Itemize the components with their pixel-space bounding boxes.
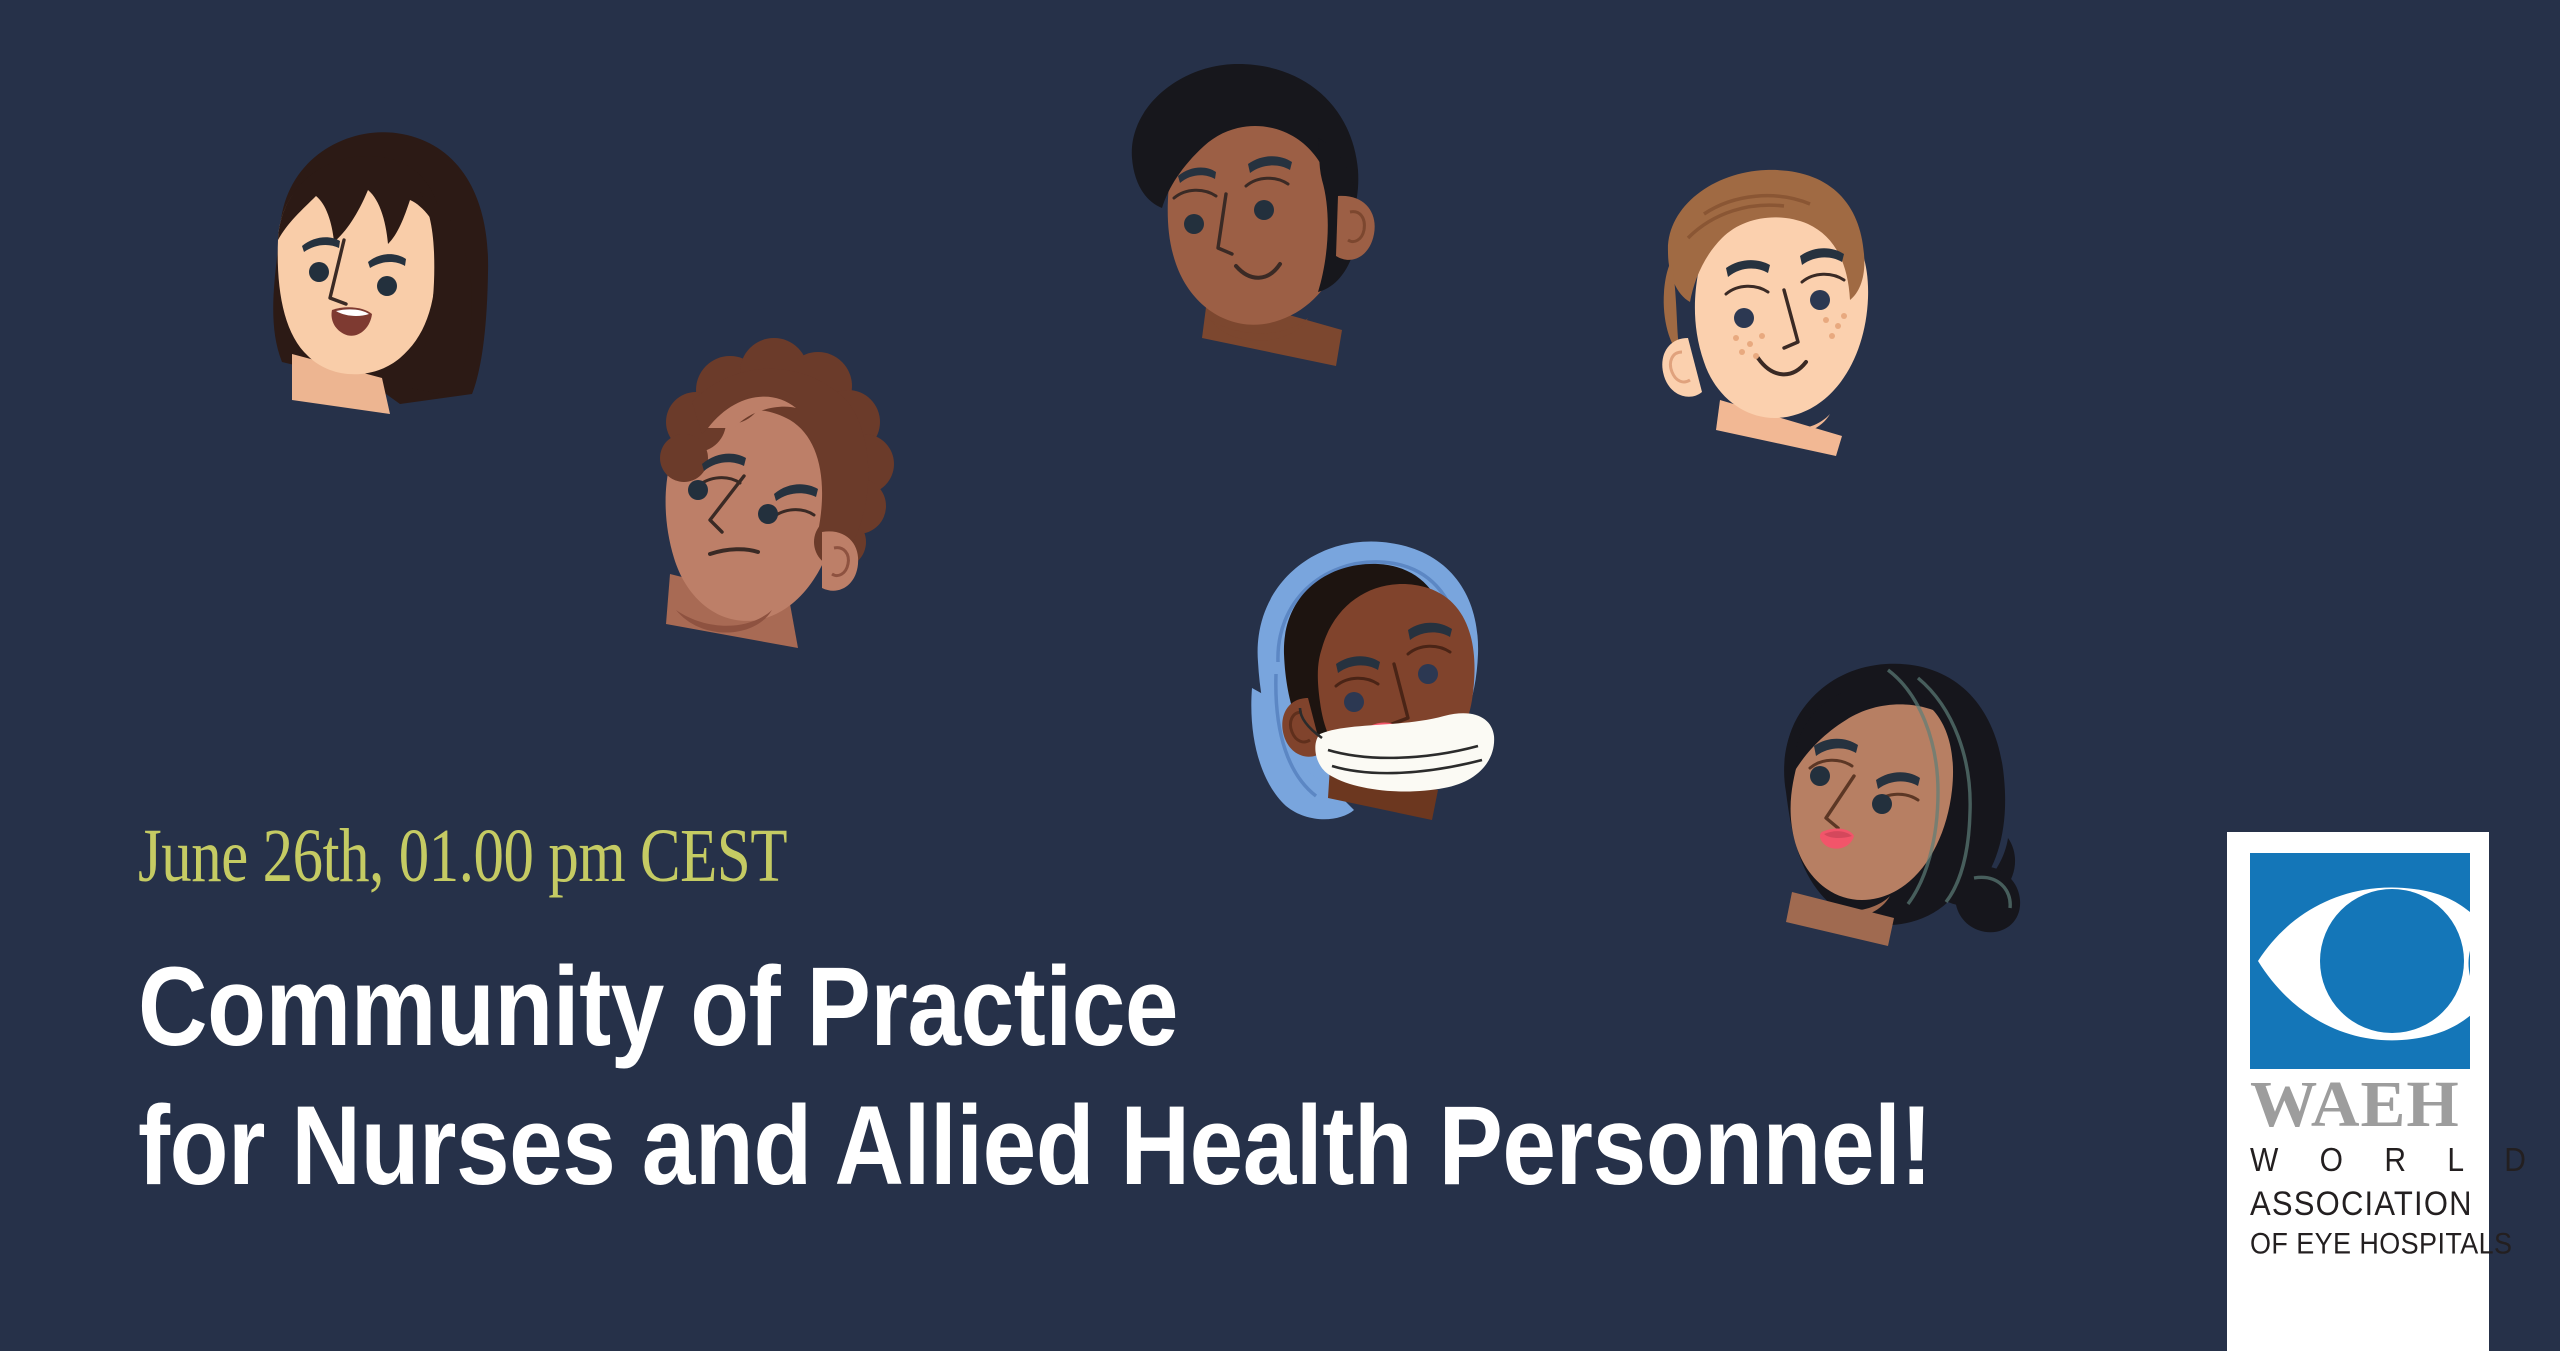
headline-line-1: Community of Practice (138, 938, 1514, 1077)
face-woman-long-hair (1742, 642, 2032, 947)
promo-banner: June 26th, 01.00 pm CEST Community of Pr… (0, 0, 2560, 1351)
face-man-black-hair (1102, 42, 1402, 367)
waeh-acronym: WAEH (2250, 1073, 2474, 1138)
waeh-logo: WAEH W O R L D ASSOCIATION OF EYE HOSPIT… (2227, 832, 2489, 1351)
waeh-line-hospitals: OF EYE HOSPITALS (2250, 1227, 2470, 1261)
event-date: June 26th, 01.00 pm CEST (138, 818, 1418, 894)
face-woman-hijab-mask (1212, 522, 1502, 822)
waeh-line-association: ASSOCIATION (2250, 1184, 2470, 1224)
headline-line-2: for Nurses and Allied Health Personnel! (138, 1077, 1514, 1216)
waeh-wordmark: WAEH W O R L D ASSOCIATION OF EYE HOSPIT… (2250, 1073, 2470, 1258)
waeh-eye-icon (2250, 853, 2470, 1069)
face-man-curly (622, 342, 922, 667)
page-title: Community of Practice for Nurses and All… (138, 938, 1514, 1216)
waeh-line-world: W O R L D (2250, 1142, 2470, 1180)
event-text-block: June 26th, 01.00 pm CEST Community of Pr… (138, 818, 1738, 1216)
face-man-freckles (1642, 152, 1922, 457)
face-woman-bob (222, 122, 512, 417)
